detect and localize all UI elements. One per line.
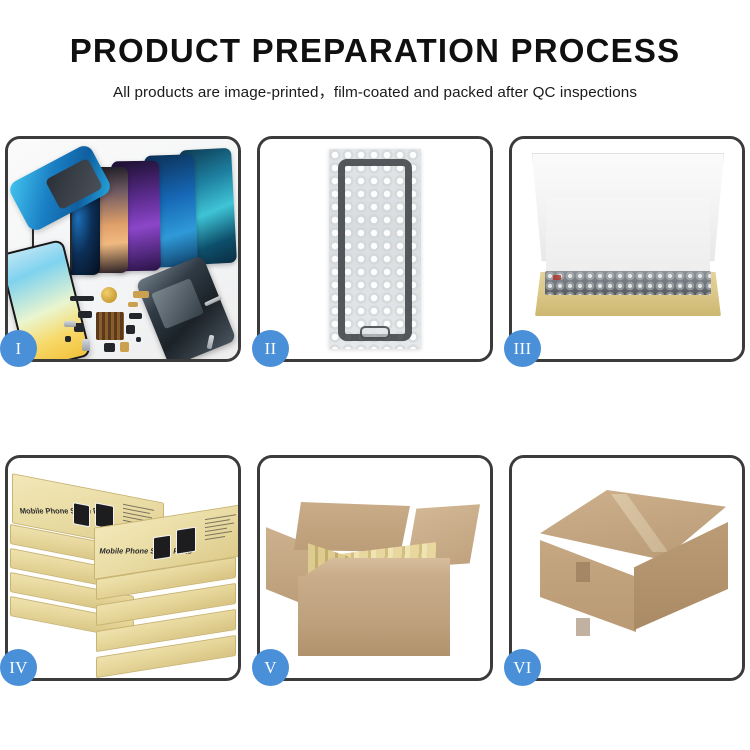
part-camera-module — [120, 342, 129, 352]
retail-box-thumb-1a — [73, 502, 90, 527]
part-sim-tray — [82, 339, 90, 351]
step-panel-6: VI — [509, 455, 745, 681]
step-panel-5: V — [257, 455, 493, 681]
step-4-image: Mobile Phone Spare Parts Mobile — [8, 458, 238, 678]
step-2-image — [260, 139, 490, 359]
step-3-image — [512, 139, 742, 359]
step-panel-3: III — [509, 136, 745, 362]
bubble-wrap-sheet — [329, 149, 421, 349]
sealed-carton-seam-bottom — [576, 618, 590, 636]
step-5-image — [260, 458, 490, 678]
retail-box-thumb-2a — [153, 535, 171, 561]
header: PRODUCT PREPARATION PROCESS All products… — [0, 0, 750, 102]
sealed-carton-seam-top — [576, 562, 590, 582]
step-6-image — [512, 458, 742, 678]
step-panel-4: Mobile Phone Spare Parts Mobile — [5, 455, 241, 681]
part-speaker-grille — [96, 312, 124, 340]
screen-glass-frame — [338, 159, 412, 341]
step-badge-3: III — [504, 330, 541, 367]
part-vibration-motor — [101, 287, 117, 303]
product-preparation-infographic: PRODUCT PREPARATION PROCESS All products… — [0, 0, 750, 750]
step-1-image — [8, 139, 238, 359]
retail-box-stack: Mobile Phone Spare Parts Mobile — [10, 476, 238, 672]
part-flex-cable-1 — [133, 291, 149, 298]
step-panel-2: II — [257, 136, 493, 362]
part-flex-cable-2 — [128, 302, 138, 307]
part-speaker-bar — [70, 296, 94, 301]
part-screw-1 — [65, 336, 71, 342]
carton-body — [298, 576, 450, 656]
page-title: PRODUCT PREPARATION PROCESS — [0, 34, 750, 69]
step-badge-5: V — [252, 649, 289, 686]
part-bracket-1 — [64, 321, 76, 327]
page-subtitle: All products are image-printed，film-coat… — [0, 80, 750, 102]
part-connector-4 — [126, 325, 135, 334]
step-badge-2: II — [252, 330, 289, 367]
kraft-box-white-interior — [546, 197, 710, 275]
step-badge-1: I — [0, 330, 37, 367]
step-badge-4: IV — [0, 649, 37, 686]
part-connector-3 — [129, 313, 142, 319]
step-badge-6: VI — [504, 649, 541, 686]
retail-box-thumb-2b — [176, 527, 196, 555]
process-steps-grid: I II III — [5, 136, 745, 681]
step-panel-1: I — [5, 136, 241, 362]
part-connector-1 — [78, 311, 92, 318]
part-screw-2 — [136, 337, 141, 342]
part-button-cap — [104, 343, 115, 352]
wrapped-screen-in-box — [545, 271, 711, 295]
retail-box-speclist-2 — [205, 514, 238, 543]
